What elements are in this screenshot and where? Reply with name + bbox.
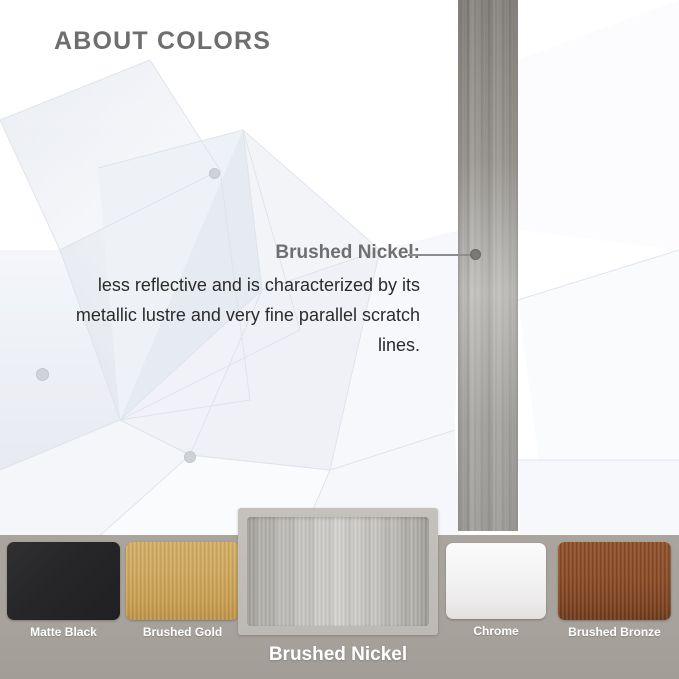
callout-leader-line (408, 254, 474, 256)
swatch-label-brushed-bronze: Brushed Bronze (558, 625, 671, 639)
callout-term: Brushed Nickel: (40, 240, 420, 266)
bar-left-edge (458, 0, 461, 531)
brushed-grain-texture (558, 542, 671, 620)
callout-text-block: Brushed Nickel: less reflective and is c… (40, 240, 420, 360)
swatch-tile-chrome[interactable] (446, 543, 546, 619)
callout-leader-endpoint-dot (470, 249, 481, 260)
swatch-label-chrome: Chrome (446, 624, 546, 638)
swatch-tile-brushed-nickel[interactable] (247, 517, 429, 626)
swatch-label-brushed-gold: Brushed Gold (126, 625, 239, 639)
swatch-label-matte-black: Matte Black (7, 625, 120, 639)
decorative-dot (36, 368, 49, 381)
swatch-tile-brushed-gold[interactable] (126, 542, 239, 620)
page-title: ABOUT COLORS (54, 27, 271, 56)
infographic-canvas: ABOUT COLORS Brushed Nickel: less reflec… (0, 0, 679, 679)
swatch-brushed-bronze[interactable]: Brushed Bronze (558, 542, 671, 639)
swatch-chrome[interactable]: Chrome (446, 543, 546, 638)
brushed-grain-texture (458, 0, 518, 531)
brushed-grain-texture (247, 517, 429, 626)
decorative-dot (209, 168, 220, 179)
swatch-brushed-gold[interactable]: Brushed Gold (126, 542, 239, 639)
callout-description: less reflective and is characterized by … (40, 270, 420, 360)
swatch-matte-black[interactable]: Matte Black (7, 542, 120, 639)
swatch-tile-matte-black[interactable] (7, 542, 120, 620)
swatch-brushed-nickel-featured[interactable] (238, 508, 438, 635)
swatch-tile-brushed-bronze[interactable] (558, 542, 671, 620)
swatch-label-brushed-nickel: Brushed Nickel (238, 644, 438, 666)
decorative-dot (184, 451, 196, 463)
brushed-nickel-sample-bar (458, 0, 518, 531)
brushed-grain-texture (126, 542, 239, 620)
bar-right-edge (515, 0, 518, 531)
